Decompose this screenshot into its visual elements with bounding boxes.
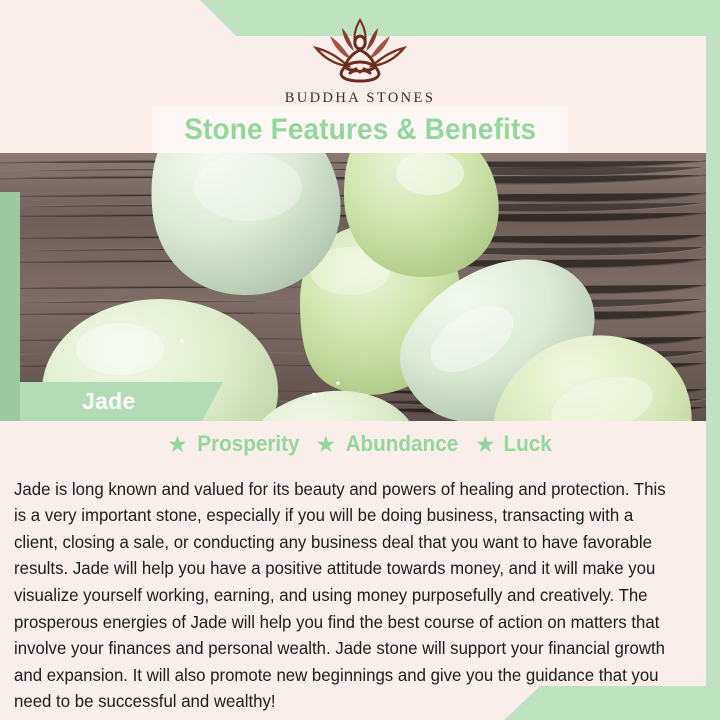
stone-name: Jade [82, 388, 136, 415]
jade-stones-image [0, 153, 706, 421]
benefits-row: ★ Prosperity ★ Abundance ★ Luck [0, 431, 720, 457]
stone-name-band: Jade [20, 382, 223, 421]
star-icon: ★ [316, 433, 337, 456]
page-title: Stone Features & Benefits [184, 113, 536, 147]
benefit-label: Prosperity [197, 431, 299, 457]
benefit-label: Abundance [346, 431, 459, 457]
benefit-item: ★ Abundance [316, 431, 462, 457]
title-banner: Stone Features & Benefits [152, 106, 568, 153]
benefit-item: ★ Luck [475, 431, 553, 457]
benefit-item: ★ Prosperity [167, 431, 302, 457]
brand-name: BUDDHA STONES [0, 90, 720, 107]
benefit-label: Luck [503, 431, 551, 457]
stone-info-card: BUDDHA STONES Stone Features & Benefits [0, 0, 720, 720]
star-icon: ★ [475, 433, 496, 456]
stone-photo [0, 153, 706, 421]
stone-description: Jade is long known and valued for its be… [14, 476, 673, 715]
photo-left-accent [0, 192, 20, 421]
star-icon: ★ [167, 433, 188, 456]
lotus-meditation-icon [298, 14, 422, 88]
brand-logo: BUDDHA STONES [0, 14, 720, 107]
